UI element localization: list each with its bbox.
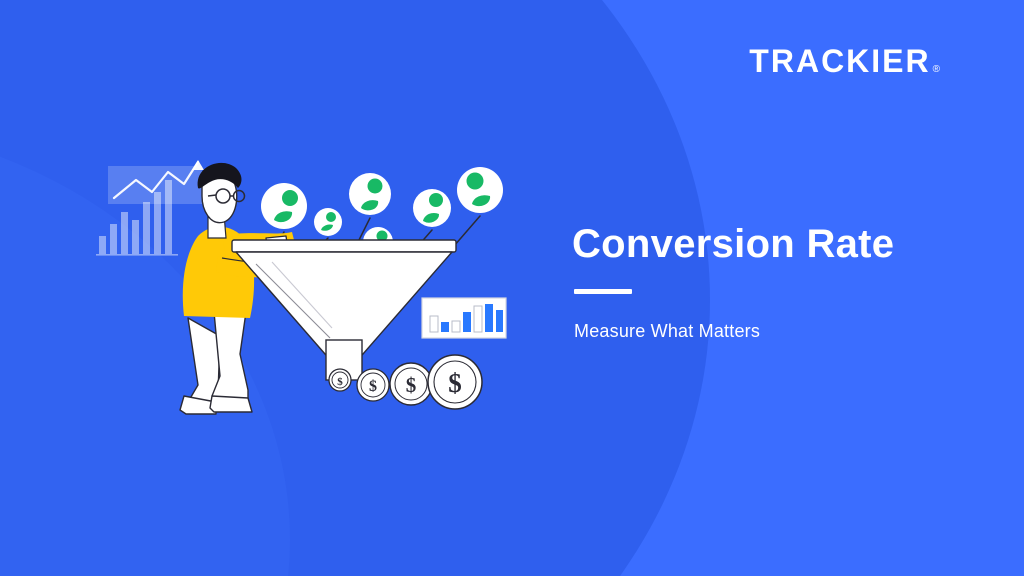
user-avatar-icon [314, 208, 342, 236]
coin-icon: $ [390, 363, 432, 405]
registered-trademark-icon: ® [933, 65, 940, 75]
bar-chart-card [422, 298, 506, 338]
title-divider [574, 289, 632, 294]
headline-block: Conversion Rate Measure What Matters [572, 222, 972, 342]
svg-text:$: $ [369, 378, 377, 395]
coin-icon: $ [329, 369, 351, 391]
character-shoe-front [210, 396, 252, 412]
user-avatar-icon [457, 167, 503, 213]
coin-icon: $ [428, 355, 482, 409]
brand-logo[interactable]: TRACKIER ® [749, 45, 940, 77]
user-avatar-icon [413, 189, 451, 227]
svg-text:$: $ [337, 376, 343, 388]
brand-logo-text: TRACKIER [749, 45, 930, 77]
hero-illustration: $ $ $ $ [80, 140, 540, 440]
funnel-rim [232, 240, 456, 252]
user-avatar-icon [261, 183, 307, 229]
coin-icon: $ [357, 369, 389, 401]
banner-root: TRACKIER ® Conversion Rate Measure What … [0, 0, 1024, 576]
user-avatar-icon [349, 173, 391, 215]
page-title: Conversion Rate [572, 222, 972, 267]
line-chart-arrow-icon [192, 160, 204, 170]
svg-text:$: $ [448, 368, 462, 398]
page-subtitle: Measure What Matters [574, 321, 972, 342]
svg-text:$: $ [406, 373, 417, 397]
